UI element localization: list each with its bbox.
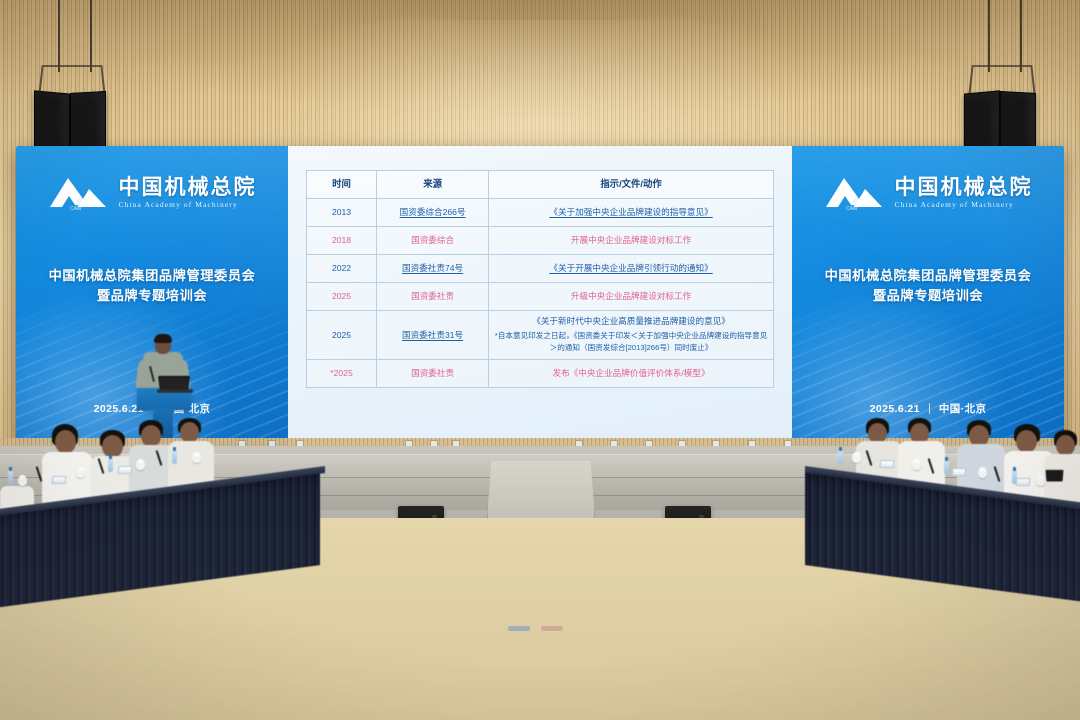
table-header-row: 时间 来源 指示/文件/动作 bbox=[307, 171, 774, 199]
teacup bbox=[18, 478, 27, 486]
teacup bbox=[978, 470, 987, 478]
svg-text:CAM: CAM bbox=[70, 206, 81, 212]
cell-source: 国资委社责31号 bbox=[377, 311, 489, 360]
table-row: *2025 国资委社责 发布《中央企业品牌价值评价体系/模型》 bbox=[307, 359, 774, 387]
brand-name-en: China Academy of Machinery bbox=[119, 201, 257, 209]
slide-meta-right: 2025.6.21 中国·北京 bbox=[792, 401, 1064, 416]
name-card bbox=[1016, 478, 1031, 486]
podium-laptop-icon bbox=[158, 376, 190, 390]
teacup bbox=[192, 455, 201, 463]
brand-lockup-left: CAM 中国机械总院 China Academy of Machinery bbox=[16, 174, 288, 212]
slide-title-line1: 中国机械总院集团品牌管理委员会 bbox=[49, 268, 256, 283]
col-header-action: 指示/文件/动作 bbox=[489, 171, 774, 199]
cell-source: 国资委综合266号 bbox=[377, 199, 489, 227]
cell-source: 国资委社责 bbox=[377, 283, 489, 311]
cell-action: 《关于加强中央企业品牌建设的指导意见》 bbox=[489, 199, 774, 227]
cell-time: 2013 bbox=[307, 199, 377, 227]
slide-title-right: 中国机械总院集团品牌管理委员会 暨品牌专题培训会 bbox=[792, 266, 1064, 307]
water-bottle bbox=[838, 450, 843, 464]
brand-name-cn: 中国机械总院 bbox=[895, 177, 1033, 198]
teacup bbox=[912, 462, 921, 470]
rigging-wire bbox=[58, 0, 60, 72]
slide-document: 时间 来源 指示/文件/动作 2013 国资委综合266号 《关于加强中央企业品… bbox=[288, 146, 792, 446]
cell-action: 升级中央企业品牌建设对标工作 bbox=[489, 283, 774, 311]
table-row: 2018 国资委综合 开展中央企业品牌建设对标工作 bbox=[307, 227, 774, 255]
cell-time: 2018 bbox=[307, 227, 377, 255]
stage-ramp bbox=[487, 461, 595, 519]
attendee-head bbox=[102, 435, 123, 458]
cell-action: 开展中央企业品牌建设对标工作 bbox=[489, 227, 774, 255]
water-bottle bbox=[8, 470, 13, 484]
svg-text:CAM: CAM bbox=[846, 206, 857, 212]
col-header-time: 时间 bbox=[307, 171, 377, 199]
teacup bbox=[1036, 478, 1045, 486]
floor-marker bbox=[541, 626, 563, 631]
cell-action: 《关于开展中央企业品牌引领行动的通知》 bbox=[489, 255, 774, 283]
cell-source: 国资委社责74号 bbox=[377, 255, 489, 283]
cell-time: 2022 bbox=[307, 255, 377, 283]
attendee-head bbox=[1016, 430, 1037, 453]
attendee-head bbox=[1056, 435, 1075, 456]
col-header-source: 来源 bbox=[377, 171, 489, 199]
cell-source: 国资委综合 bbox=[377, 227, 489, 255]
cell-action-main: 《关于新时代中央企业高质量推进品牌建设的意见》 bbox=[532, 316, 730, 326]
teacup bbox=[76, 470, 85, 478]
floor-marker bbox=[508, 626, 530, 631]
name-card bbox=[952, 468, 967, 476]
brand-lockup-right: CAM 中国机械总院 China Academy of Machinery bbox=[792, 174, 1064, 212]
slide-location: 中国·北京 bbox=[939, 401, 987, 416]
teacup bbox=[136, 462, 145, 470]
led-panel-center: 时间 来源 指示/文件/动作 2013 国资委综合266号 《关于加强中央企业品… bbox=[288, 146, 792, 446]
slide-title-left: 中国机械总院集团品牌管理委员会 暨品牌专题培训会 bbox=[16, 266, 288, 307]
policy-timeline-table: 时间 来源 指示/文件/动作 2013 国资委综合266号 《关于加强中央企业品… bbox=[306, 170, 774, 388]
rigging-wire bbox=[988, 0, 990, 72]
slide-title-line2: 暨品牌专题培训会 bbox=[792, 286, 1064, 306]
rigging-wire bbox=[90, 0, 92, 72]
led-panel-right: CAM 中国机械总院 China Academy of Machinery 中国… bbox=[792, 146, 1064, 446]
overhead-speaker-array-right: BOSE BOSE bbox=[962, 0, 1042, 160]
teacup bbox=[852, 455, 861, 463]
water-bottle bbox=[108, 458, 113, 472]
name-card bbox=[52, 476, 67, 484]
table-row: 2025 国资委社责 升级中央企业品牌建设对标工作 bbox=[307, 283, 774, 311]
brand-name-en: China Academy of Machinery bbox=[895, 201, 1033, 209]
table-row: 2013 国资委综合266号 《关于加强中央企业品牌建设的指导意见》 bbox=[307, 199, 774, 227]
attendee-laptop-icon bbox=[1046, 470, 1064, 482]
slide-date: 2025.6.21 bbox=[870, 403, 920, 415]
water-bottle bbox=[944, 460, 949, 474]
attendee-head bbox=[180, 422, 199, 443]
mountain-logo-icon: CAM bbox=[48, 174, 110, 212]
cell-time: 2025 bbox=[307, 283, 377, 311]
attendee-head bbox=[141, 425, 161, 447]
brand-text-left: 中国机械总院 China Academy of Machinery bbox=[119, 177, 257, 209]
name-card bbox=[118, 466, 133, 474]
rigging-wire bbox=[1020, 0, 1022, 72]
cell-time: *2025 bbox=[307, 359, 377, 387]
water-bottle bbox=[172, 450, 177, 464]
cell-time: 2025 bbox=[307, 311, 377, 360]
cell-source: 国资委社责 bbox=[377, 359, 489, 387]
cell-action: 《关于新时代中央企业高质量推进品牌建设的意见》 *自本意见印发之日起，《国资委关… bbox=[489, 311, 774, 360]
conference-room-scene: BOSE BOSE BOSE BOSE CAM 中国机械总院 China Aca… bbox=[0, 0, 1080, 720]
presenter-hair bbox=[154, 334, 172, 343]
table-row: 2022 国资委社责74号 《关于开展中央企业品牌引领行动的通知》 bbox=[307, 255, 774, 283]
cell-action-note: *自本意见印发之日起，《国资委关于印发＜关于加强中央企业品牌建设的指导意见＞的通… bbox=[492, 330, 770, 355]
mountain-logo-icon: CAM bbox=[824, 174, 886, 212]
brand-name-cn: 中国机械总院 bbox=[119, 177, 257, 198]
slide-title-line2: 暨品牌专题培训会 bbox=[16, 286, 288, 306]
name-card bbox=[880, 460, 895, 468]
cell-action: 发布《中央企业品牌价值评价体系/模型》 bbox=[489, 359, 774, 387]
brand-text-right: 中国机械总院 China Academy of Machinery bbox=[895, 177, 1033, 209]
overhead-speaker-array-left: BOSE BOSE bbox=[32, 0, 112, 160]
attendee-head bbox=[55, 430, 76, 454]
slide-title-line1: 中国机械总院集团品牌管理委员会 bbox=[825, 268, 1032, 283]
meta-separator bbox=[929, 403, 930, 414]
table-row: 2025 国资委社责31号 《关于新时代中央企业高质量推进品牌建设的意见》 *自… bbox=[307, 311, 774, 360]
